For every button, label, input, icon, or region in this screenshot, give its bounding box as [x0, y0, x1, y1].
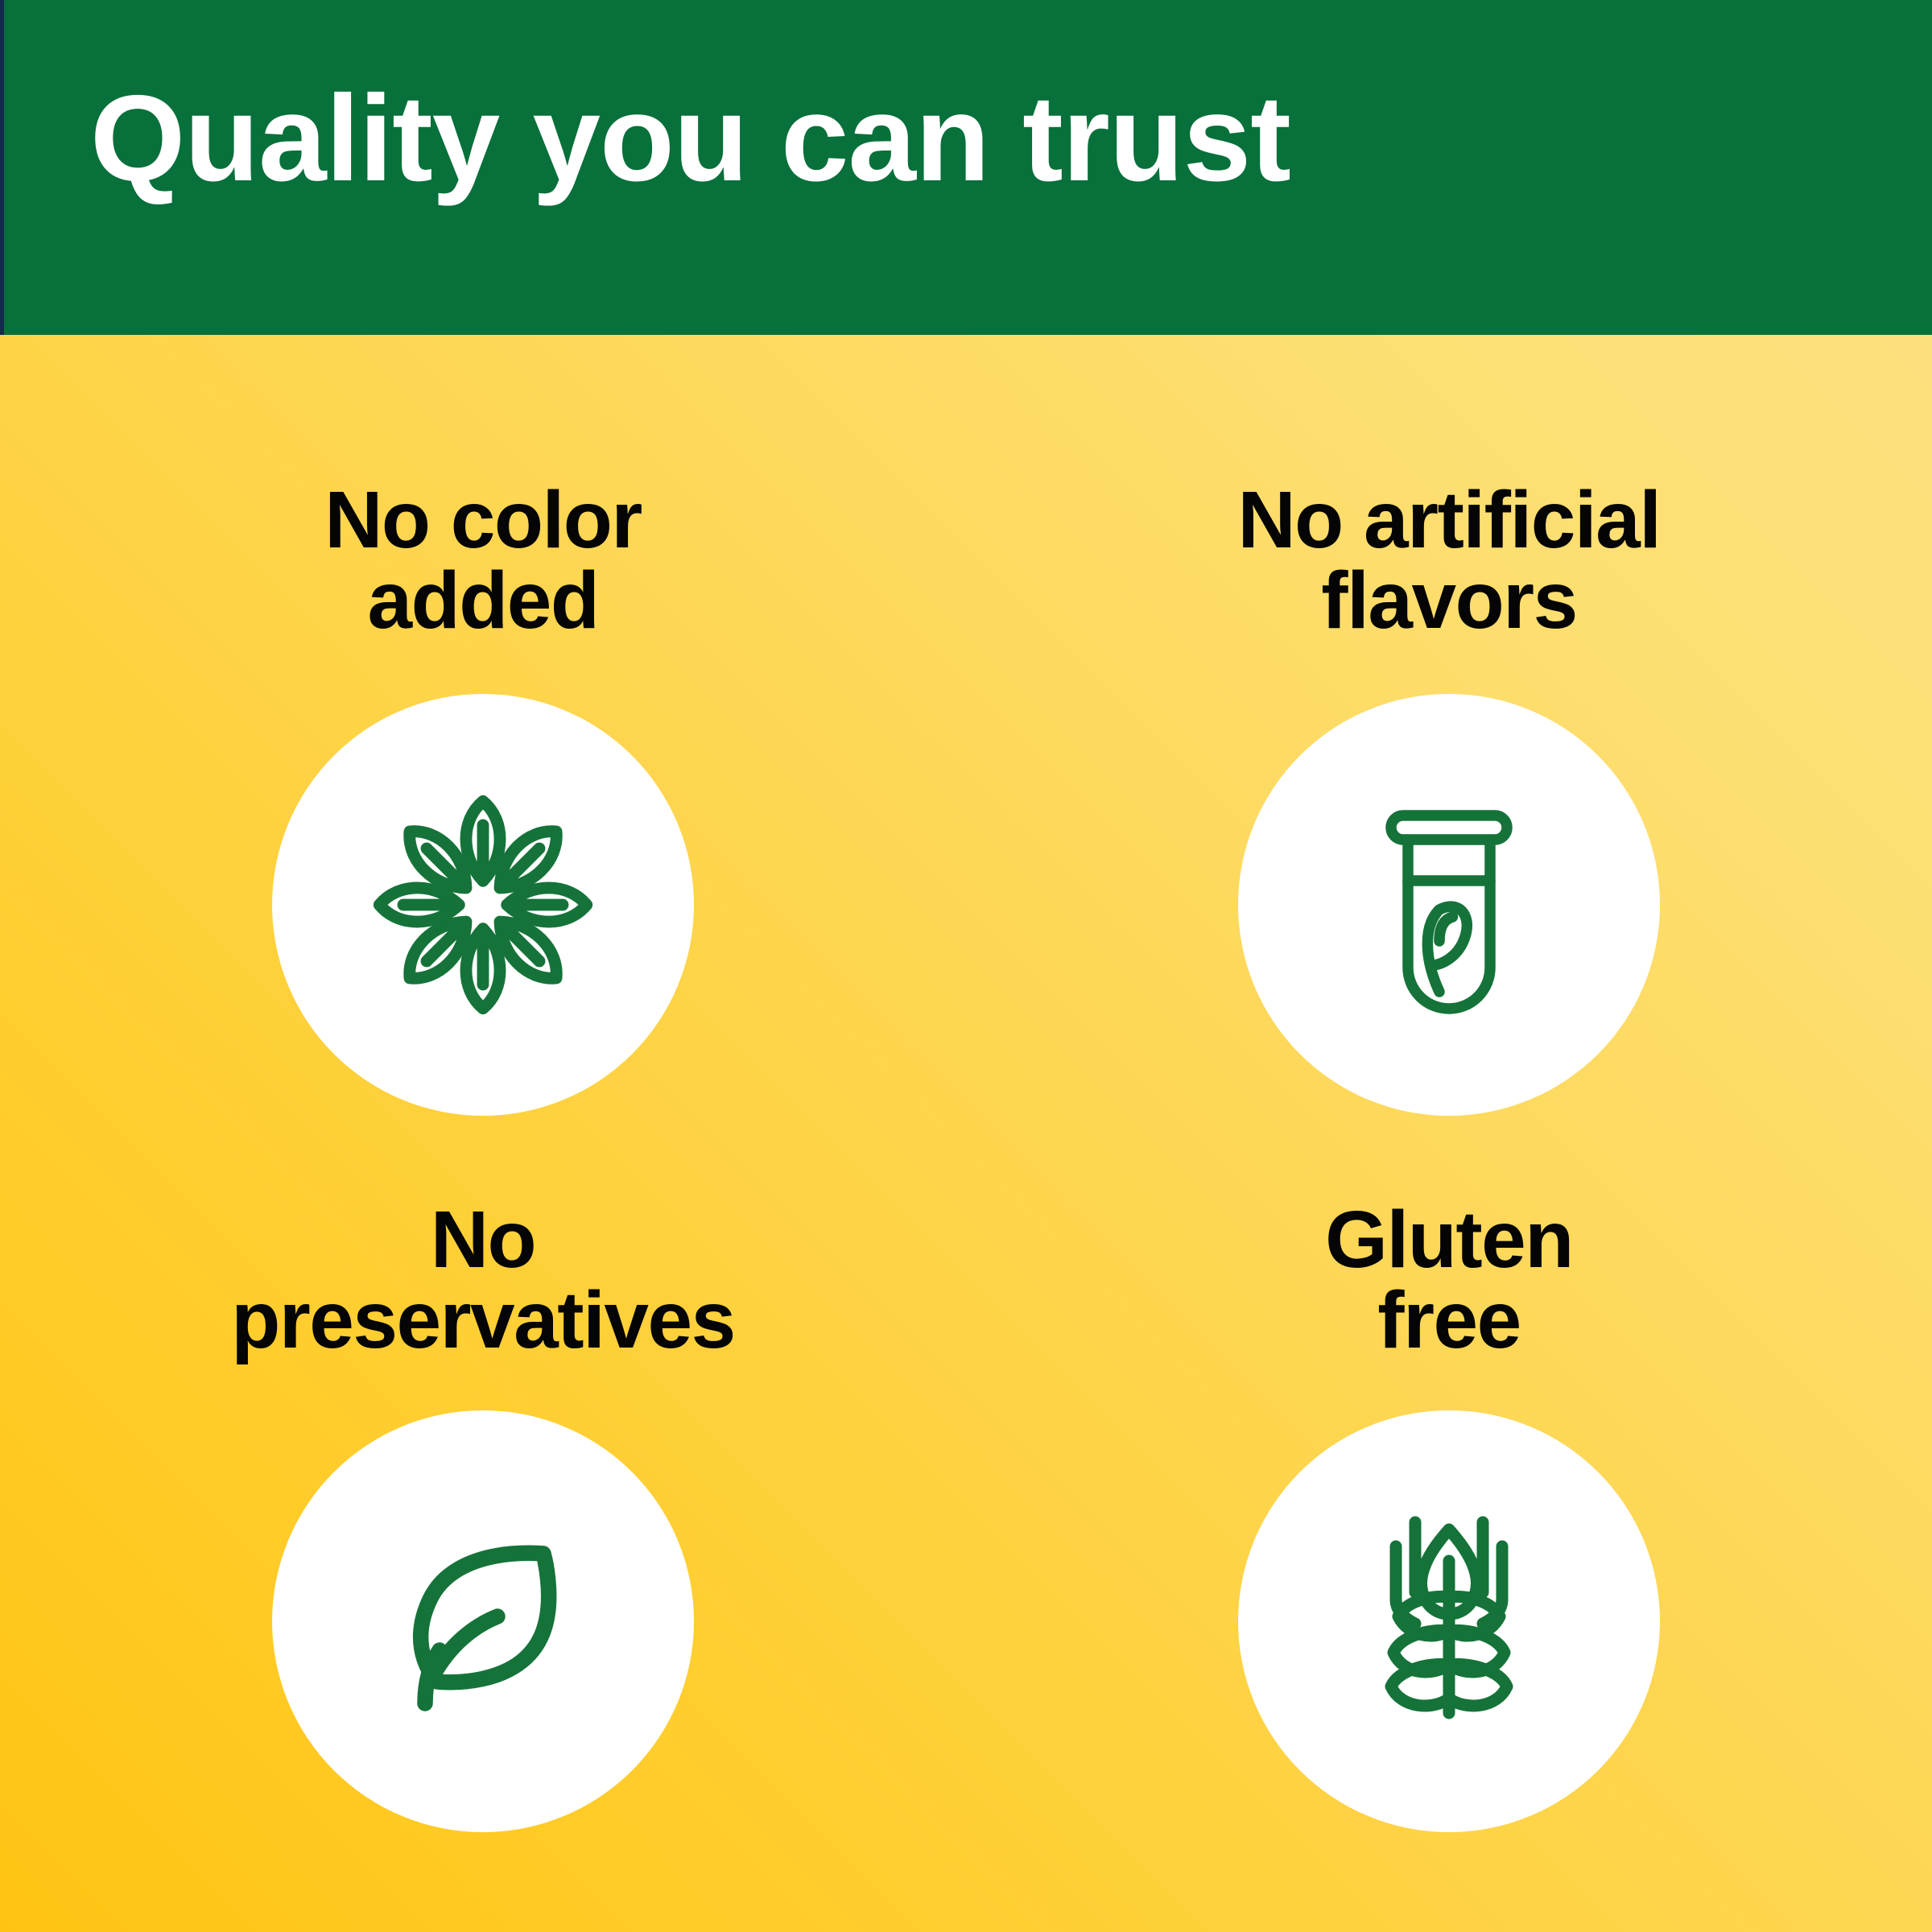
benefits-grid: No color added: [0, 335, 1932, 1932]
header-band: Quality you can trust: [0, 0, 1932, 335]
icon-badge-gluten-free: [1238, 1410, 1660, 1832]
wheat-stalk-icon: [1328, 1501, 1570, 1742]
icon-badge-no-preservatives: [272, 1410, 694, 1832]
benefit-tile-gluten-free: Gluten free: [966, 1075, 1932, 1874]
icon-badge-no-color-added: [272, 694, 694, 1116]
benefit-label-gluten-free: Gluten free: [1325, 1199, 1573, 1360]
benefit-tile-no-artificial-flavors: No artificial flavors: [966, 335, 1932, 1133]
benefit-label-no-preservatives: No preservatives: [231, 1199, 734, 1360]
infographic-canvas: Quality you can trust No color added: [0, 0, 1932, 1932]
flower-rosette-icon: [350, 772, 616, 1038]
benefit-tile-no-color-added: No color added: [0, 335, 966, 1133]
page-title: Quality you can trust: [90, 71, 1885, 206]
left-edge-accent-strip: [0, 0, 4, 335]
benefit-label-no-color-added: No color added: [324, 480, 642, 641]
test-tube-sprout-icon: [1328, 784, 1570, 1026]
benefit-tile-no-preservatives: No preservatives: [0, 1075, 966, 1874]
benefit-label-no-artificial-flavors: No artificial flavors: [1237, 480, 1660, 641]
leaf-icon: [362, 1501, 604, 1742]
icon-badge-no-artificial-flavors: [1238, 694, 1660, 1116]
